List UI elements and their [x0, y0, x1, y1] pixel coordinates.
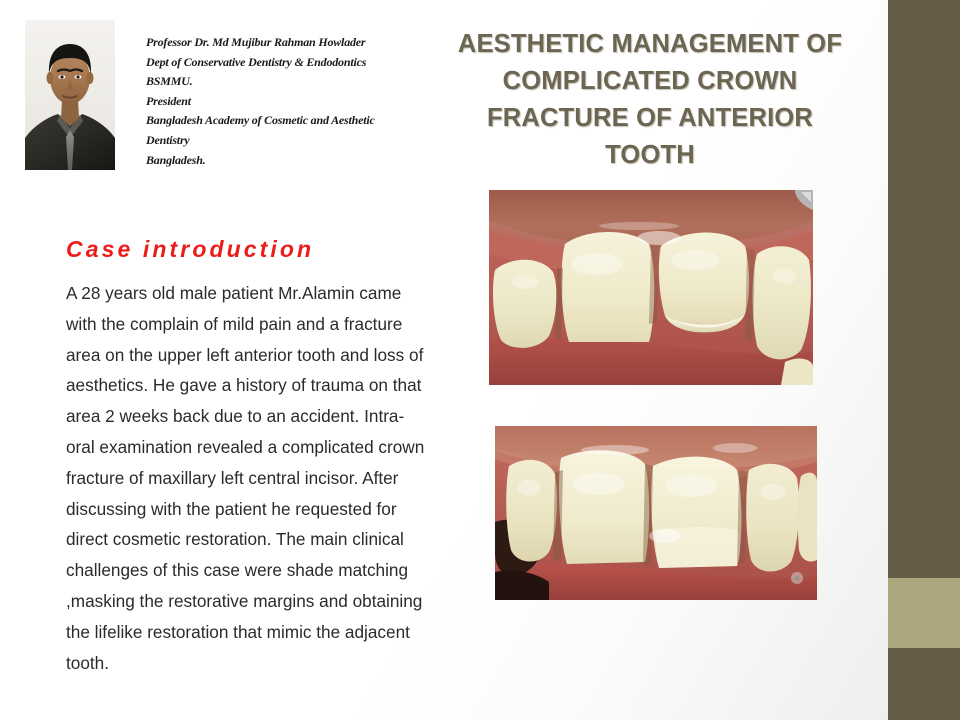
decorative-band-middle — [888, 578, 960, 648]
decorative-band-top — [888, 0, 960, 578]
author-line: President — [146, 92, 446, 112]
case-introduction-body: A 28 years old male patient Mr.Alamin ca… — [66, 278, 428, 678]
author-line: Dept of Conservative Dentistry & Endodon… — [146, 53, 446, 73]
presentation-slide: Professor Dr. Md Mujibur Rahman Howlader… — [0, 0, 960, 720]
author-credentials: Professor Dr. Md Mujibur Rahman Howlader… — [146, 33, 446, 170]
author-line: Professor Dr. Md Mujibur Rahman Howlader — [146, 33, 446, 53]
author-block: Professor Dr. Md Mujibur Rahman Howlader… — [0, 0, 450, 180]
presenter-portrait-image — [25, 20, 115, 170]
slide-title: AESTHETIC MANAGEMENT OF COMPLICATED CROW… — [447, 26, 853, 174]
decorative-band-bottom — [888, 648, 960, 720]
postoperative-intraoral-photo — [495, 426, 817, 600]
author-line: Bangladesh Academy of Cosmetic and Aesth… — [146, 111, 446, 131]
author-line: BSMMU. — [146, 72, 446, 92]
case-introduction-heading: Case introduction — [66, 236, 314, 263]
preoperative-intraoral-photo — [489, 190, 813, 385]
author-line: Bangladesh. — [146, 151, 446, 171]
author-line: Dentistry — [146, 131, 446, 151]
